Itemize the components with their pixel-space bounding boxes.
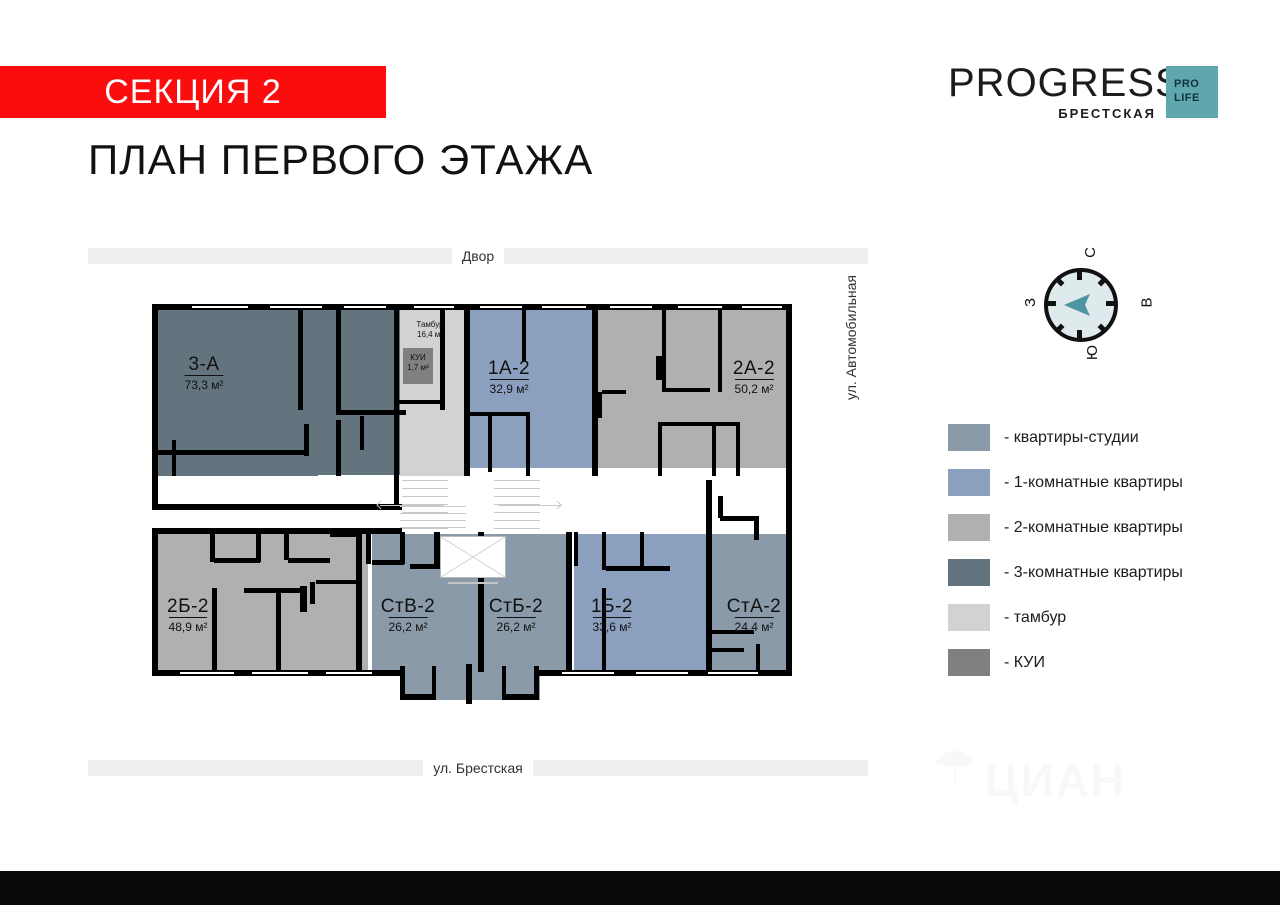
watermark-icon: ☂	[931, 739, 978, 799]
unit-name-stb2: СтБ-2	[489, 596, 543, 617]
floor-plan-drawing: 3-А 73,3 м² 1А-2 32,9 м² 2А-2 50,2 м² 2Б…	[150, 300, 802, 720]
room-name-tambur: Тамбур	[416, 320, 443, 330]
logo-badge-line1: PRO	[1174, 78, 1199, 90]
legend-label-1room: - 1-комнатные квартиры	[1004, 474, 1183, 492]
unit-label-3a: 3-А 73,3 м²	[185, 354, 224, 394]
unit-name-1a2: 1А-2	[488, 358, 530, 379]
room-area-tambur: 16,4 м²	[416, 330, 443, 340]
unit-name-2a2: 2А-2	[733, 358, 775, 379]
brand-logo: PROGRESS БРЕСТСКАЯ PRO LIFE	[948, 62, 1218, 120]
compass-label-south: Ю	[1084, 345, 1101, 360]
logo-wordmark: PROGRESS	[948, 62, 1183, 104]
unit-label-stv2: СтВ-2 26,2 м²	[381, 596, 436, 636]
unit-label-1b2: 1Б-2 33,6 м²	[591, 596, 633, 636]
stairs-right	[494, 476, 540, 534]
unit-area-2b2: 48,9 м²	[169, 617, 208, 635]
legend-swatch-1room	[948, 469, 990, 496]
legend-item-tambur: - тамбур	[948, 604, 1248, 631]
unit-name-stv2: СтВ-2	[381, 596, 436, 617]
compass-label-west: З	[1022, 298, 1039, 307]
unit-label-1a2: 1А-2 32,9 м²	[488, 358, 530, 398]
logo-subtitle: БРЕСТСКАЯ	[1058, 106, 1156, 121]
street-label-top-text: Двор	[452, 248, 504, 264]
legend-label-kui: - КУИ	[1004, 654, 1045, 672]
unit-area-1b2: 33,6 м²	[593, 617, 632, 635]
street-label-bottom-text: ул. Брестская	[423, 760, 532, 776]
street-label-bottom: ул. Брестская	[88, 760, 868, 776]
legend-item-1room: - 1-комнатные квартиры	[948, 469, 1248, 496]
unit-area-stb2: 26,2 м²	[497, 617, 536, 635]
logo-badge: PRO LIFE	[1166, 66, 1218, 118]
legend-label-tambur: - тамбур	[1004, 609, 1066, 627]
compass-label-east: В	[1139, 297, 1156, 307]
legend-swatch-2room	[948, 514, 990, 541]
elevator	[440, 536, 506, 578]
room-name-kui: КУИ	[407, 353, 429, 363]
legend-label-2room: - 2-комнатные квартиры	[1004, 519, 1183, 537]
unit-label-2b2: 2Б-2 48,9 м²	[167, 596, 209, 636]
floor-plan-page: СЕКЦИЯ 2 ПЛАН ПЕРВОГО ЭТАЖА PROGRESS БРЕ…	[0, 0, 1280, 905]
legend-label-3room: - 3-комнатные квартиры	[1004, 564, 1183, 582]
unit-label-2a2: 2А-2 50,2 м²	[733, 358, 775, 398]
compass-rose	[1044, 268, 1118, 342]
unit-name-2b2: 2Б-2	[167, 596, 209, 617]
unit-area-3a: 73,3 м²	[185, 375, 224, 393]
room-label-kui: КУИ 1,7 м²	[407, 353, 429, 373]
page-title: ПЛАН ПЕРВОГО ЭТАЖА	[88, 136, 593, 184]
unit-area-sta2: 24,4 м²	[735, 617, 774, 635]
legend-label-studio: - квартиры-студии	[1004, 429, 1139, 447]
logo-badge-line2: LIFE	[1174, 92, 1200, 104]
footer-bar	[0, 871, 1280, 905]
unit-area-stv2: 26,2 м²	[389, 617, 428, 635]
unit-area-2a2: 50,2 м²	[735, 379, 774, 397]
legend-swatch-kui	[948, 649, 990, 676]
unit-label-sta2: СтА-2 24,4 м²	[727, 596, 782, 636]
unit-area-1a2: 32,9 м²	[490, 379, 529, 397]
elevator-door	[448, 582, 498, 584]
legend: - квартиры-студии - 1-комнатные квартиры…	[948, 424, 1248, 694]
street-label-top: Двор	[88, 248, 868, 264]
compass-label-north: С	[1082, 247, 1099, 258]
compass-needle-icon	[1044, 268, 1118, 342]
legend-item-studio: - квартиры-студии	[948, 424, 1248, 451]
street-label-right: ул. Автомобильная	[843, 275, 859, 400]
legend-swatch-tambur	[948, 604, 990, 631]
unit-name-1b2: 1Б-2	[591, 596, 633, 617]
legend-item-3room: - 3-комнатные квартиры	[948, 559, 1248, 586]
section-badge: СЕКЦИЯ 2	[0, 66, 386, 118]
watermark: ☂ ЦИАН	[925, 735, 1155, 810]
stairs-entrance	[400, 506, 466, 530]
legend-swatch-3room	[948, 559, 990, 586]
legend-item-2room: - 2-комнатные квартиры	[948, 514, 1248, 541]
watermark-text: ЦИАН	[985, 753, 1126, 807]
unit-name-sta2: СтА-2	[727, 596, 782, 617]
unit-name-3a: 3-А	[185, 354, 224, 375]
unit-label-stb2: СтБ-2 26,2 м²	[489, 596, 543, 636]
room-label-tambur: Тамбур 16,4 м²	[416, 320, 443, 340]
legend-swatch-studio	[948, 424, 990, 451]
legend-item-kui: - КУИ	[948, 649, 1248, 676]
room-area-kui: 1,7 м²	[407, 363, 429, 373]
